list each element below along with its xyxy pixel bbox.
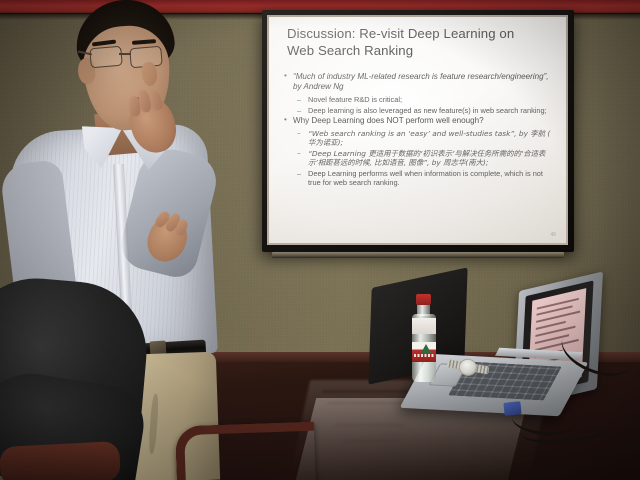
water-bottle[interactable]	[406, 294, 442, 386]
slide-page-number: 46	[550, 232, 556, 238]
projection-screen: Discussion: Re-visit Deep Learning on We…	[262, 10, 574, 252]
slide-bullet-1: “Much of industry ML-related research is…	[282, 72, 557, 93]
slide-bullet-7: Deep Learning performs well when informa…	[282, 169, 557, 188]
glasses-bridge	[119, 53, 131, 55]
slide-bullet-5: “Web search ranking is an ‘easy’ and wel…	[282, 129, 557, 148]
slide-bullet-2: Novel feature R&D is critical;	[282, 95, 557, 104]
slide-body: “Much of industry ML-related research is…	[282, 72, 557, 189]
bottle-label-upper	[412, 318, 436, 334]
chair-armrest	[175, 422, 316, 480]
slide-title: Discussion: Re-visit Deep Learning on We…	[287, 25, 552, 59]
bottle-cap[interactable]	[416, 294, 431, 305]
bottle-neck	[417, 304, 430, 316]
slide-bullet-4: Why Deep Learning does NOT perform well …	[282, 116, 557, 126]
presenter-glasses	[90, 47, 166, 67]
slide-bullet-3: Deep learning is also leveraged as new f…	[282, 106, 557, 115]
slide-title-line-1: Discussion: Re-visit Deep Learning on	[287, 25, 552, 42]
slide-bullet-6: “Deep Learning 更适用于数据的‘初识表示’与解决任务所需的的‘合适…	[282, 149, 557, 168]
chair-armrest-lower	[0, 441, 121, 480]
presentation-photo-scene: Discussion: Re-visit Deep Learning on We…	[0, 0, 640, 480]
projected-slide: Discussion: Re-visit Deep Learning on We…	[269, 17, 566, 243]
glasses-lens-left	[89, 46, 123, 69]
bottle-label-text	[414, 354, 434, 357]
bottle-logo-icon	[421, 344, 431, 353]
slide-title-line-2: Web Search Ranking	[287, 42, 552, 59]
screen-bottom-rail	[272, 252, 564, 258]
